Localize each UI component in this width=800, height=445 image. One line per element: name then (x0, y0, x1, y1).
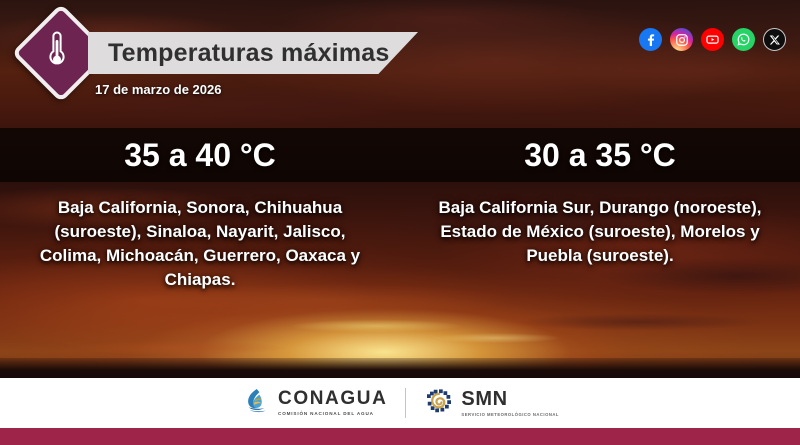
instagram-icon[interactable] (670, 28, 693, 51)
smn-name: SMN (461, 389, 559, 409)
smn-wordmark: SMN SERVICIO METEOROLÓGICO NACIONAL (461, 389, 559, 418)
youtube-icon[interactable] (701, 28, 724, 51)
conagua-wordmark: CONAGUA COMISIÓN NACIONAL DEL AGUA (278, 389, 387, 416)
conagua-subtitle: COMISIÓN NACIONAL DEL AGUA (278, 411, 387, 416)
weather-infographic: Temperaturas máximas 17 de marzo de 2026 (0, 0, 800, 445)
conagua-name: CONAGUA (278, 389, 387, 408)
conagua-logo-block: CONAGUA COMISIÓN NACIONAL DEL AGUA (241, 386, 387, 421)
title-banner: Temperaturas máximas (88, 32, 418, 74)
state-list-2: Baja California Sur, Durango (noroeste),… (400, 196, 800, 293)
temperature-range-1: 35 a 40 °C (0, 128, 400, 182)
temperature-range-2: 30 a 35 °C (400, 128, 800, 182)
forecast-date: 17 de marzo de 2026 (95, 82, 221, 97)
thermometer-icon (26, 18, 88, 80)
conagua-water-eagle-logo (241, 386, 271, 421)
bottom-accent-bar (0, 428, 800, 445)
smn-spiral-greca-logo (424, 386, 454, 421)
footer-divider (405, 388, 406, 418)
social-links (639, 28, 786, 51)
x-icon[interactable] (763, 28, 786, 51)
smn-subtitle: SERVICIO METEOROLÓGICO NACIONAL (461, 412, 559, 418)
footer-logos: CONAGUA COMISIÓN NACIONAL DEL AGUA (0, 378, 800, 428)
state-list-columns: Baja California, Sonora, Chihuahua (suro… (0, 196, 800, 293)
smn-logo-block: SMN SERVICIO METEOROLÓGICO NACIONAL (424, 386, 559, 421)
temperature-range-headings: 35 a 40 °C 30 a 35 °C (0, 128, 800, 182)
horizon-silhouette (0, 358, 800, 380)
page-title: Temperaturas máximas (108, 39, 389, 68)
whatsapp-icon[interactable] (732, 28, 755, 51)
facebook-icon[interactable] (639, 28, 662, 51)
state-list-1: Baja California, Sonora, Chihuahua (suro… (0, 196, 400, 293)
